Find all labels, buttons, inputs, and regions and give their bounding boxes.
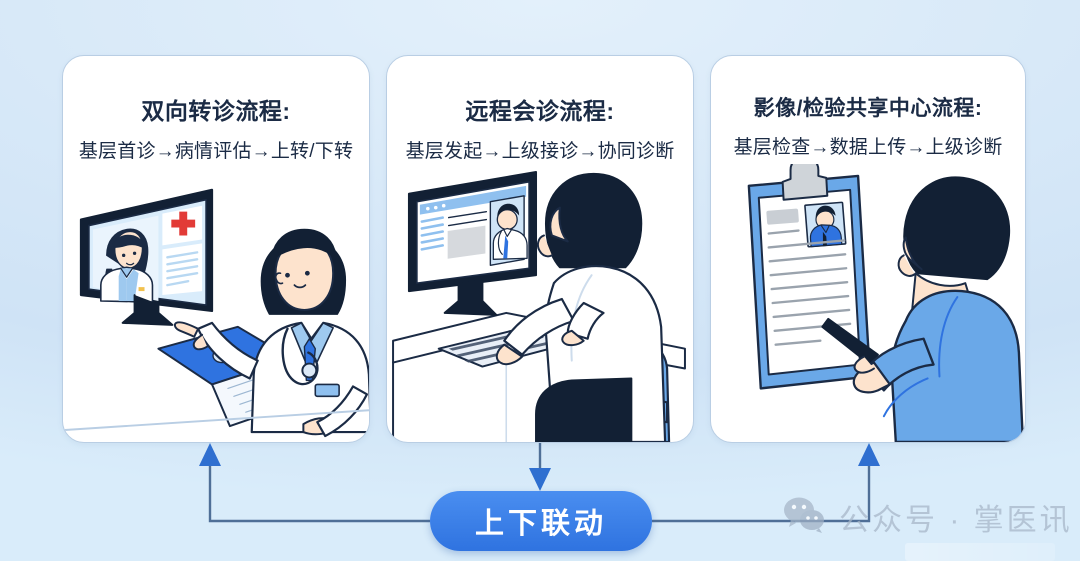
infographic-canvas: 双向转诊流程: 基层首诊→病情评估→上转/下转: [0, 0, 1080, 561]
wechat-icon: [783, 496, 827, 539]
connector-hub-to-card-1: [199, 443, 430, 521]
card-3-subtitle: 基层检查→数据上传→上级诊断: [711, 132, 1025, 159]
card-remote-consultation[interactable]: 远程会诊流程: 基层发起→上级接诊→协同诊断: [386, 55, 694, 443]
card-1-illustration: [63, 164, 369, 442]
card-2-title: 远程会诊流程:: [387, 92, 693, 126]
card-2-illustration: [387, 164, 693, 442]
connector-card-2-to-hub: [529, 443, 551, 491]
watermark-ghost-bar: [905, 543, 1055, 561]
watermark: 公众号 · 掌医讯: [783, 495, 1073, 539]
hub-button-linkage[interactable]: 上下联动: [430, 491, 652, 551]
card-3-title: 影像/检验共享中心流程:: [711, 92, 1025, 122]
card-3-illustration: [711, 164, 1025, 442]
watermark-text: 公众号 · 掌医讯: [839, 495, 1073, 539]
hub-button-label: 上下联动: [475, 500, 607, 542]
card-imaging-lab-sharing-center[interactable]: 影像/检验共享中心流程: 基层检查→数据上传→上级诊断: [710, 55, 1026, 443]
card-1-title: 双向转诊流程:: [63, 92, 369, 126]
card-two-way-referral[interactable]: 双向转诊流程: 基层首诊→病情评估→上转/下转: [62, 55, 370, 443]
card-2-subtitle: 基层发起→上级接诊→协同诊断: [387, 136, 693, 163]
card-1-subtitle: 基层首诊→病情评估→上转/下转: [63, 136, 369, 163]
